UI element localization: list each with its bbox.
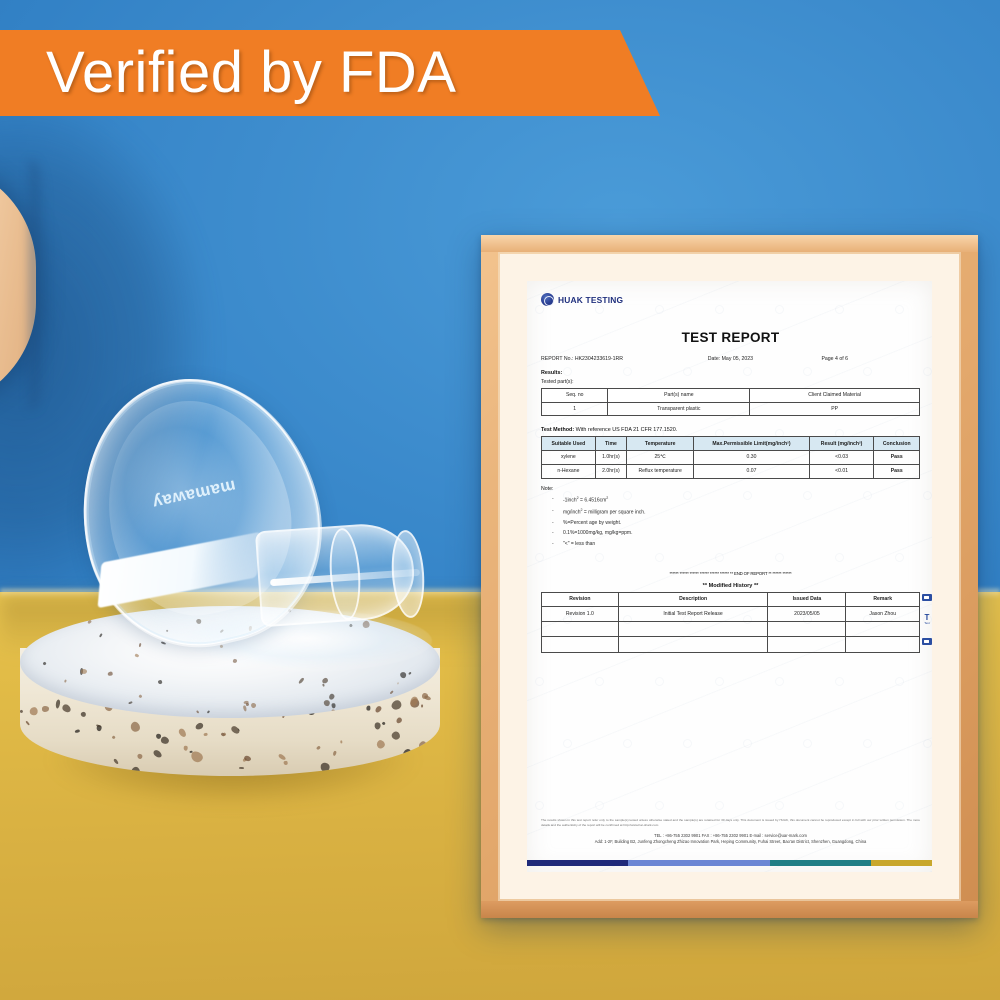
color-bar-segment-4 bbox=[871, 860, 932, 866]
table-cell: 1 bbox=[542, 402, 608, 416]
terrazzo-speck bbox=[75, 729, 80, 733]
terrazzo-speck bbox=[34, 755, 41, 762]
terrazzo-speck bbox=[420, 767, 432, 776]
watermark-dot bbox=[623, 739, 632, 748]
terrazzo-speck bbox=[25, 720, 30, 725]
verified-by-fda-banner: Verified by FDA bbox=[0, 30, 660, 116]
watermark-dot bbox=[835, 677, 844, 686]
terrazzo-speck bbox=[129, 702, 133, 705]
terrazzo-speck bbox=[374, 706, 382, 714]
huak-seal-icon bbox=[541, 293, 554, 306]
terrazzo-speck bbox=[129, 720, 142, 733]
terrazzo-speck bbox=[284, 761, 288, 765]
terrazzo-speck bbox=[328, 692, 335, 700]
report-number: REPORT No.: HK2304233619-1RR bbox=[541, 356, 708, 362]
contact-info: TEL : +86-755 2302 9901 FAX : +86-755 23… bbox=[541, 833, 920, 845]
column-header: Description bbox=[618, 592, 768, 606]
table-cell: Revision 1.0 bbox=[542, 606, 619, 621]
document-body: HUAK TESTING TEST REPORT REPORT No.: HK2… bbox=[541, 291, 920, 653]
table-cell bbox=[846, 622, 920, 637]
table-cell: <0.01 bbox=[809, 464, 874, 478]
table-cell: Transparent plastic bbox=[608, 402, 750, 416]
terrazzo-speck bbox=[239, 767, 244, 770]
terrazzo-speck bbox=[204, 733, 208, 736]
color-bar-segment-1 bbox=[527, 860, 628, 866]
terrazzo-speck bbox=[375, 739, 386, 750]
tested-parts-heading: Tested part(s): bbox=[541, 379, 920, 385]
column-header: Suitable Used bbox=[542, 437, 596, 451]
table-cell bbox=[618, 622, 768, 637]
terrazzo-speck bbox=[321, 763, 331, 773]
banner-label: Verified by FDA bbox=[0, 30, 456, 116]
tested-parts-table: Seq. noPart(s) nameClient Claimed Materi… bbox=[541, 388, 920, 416]
text-tool-caption: Text bbox=[924, 622, 930, 625]
column-header: Client Claimed Material bbox=[750, 389, 920, 403]
table-cell bbox=[768, 637, 846, 652]
terrazzo-speck bbox=[389, 690, 393, 694]
company-logo: HUAK TESTING bbox=[541, 293, 920, 306]
watermark-dot bbox=[775, 801, 784, 810]
terrazzo-speck bbox=[194, 721, 204, 730]
pdf-edge-toolbar[interactable]: T Text bbox=[920, 593, 932, 646]
terrazzo-speck bbox=[55, 699, 61, 709]
table-row: Revision 1.0Initial Test Report Release2… bbox=[542, 606, 920, 621]
terrazzo-speck bbox=[422, 692, 429, 698]
terrazzo-speck bbox=[332, 703, 336, 709]
watermark-dot bbox=[535, 801, 544, 810]
note-item: "<" = less than bbox=[563, 541, 920, 547]
terrazzo-speck bbox=[183, 745, 188, 750]
terrazzo-speck bbox=[324, 701, 330, 707]
watermark-dot bbox=[863, 739, 872, 748]
column-header: Seq. no bbox=[542, 389, 608, 403]
watermark-dot bbox=[655, 677, 664, 686]
terrazzo-speck bbox=[112, 735, 117, 740]
terrazzo-speck bbox=[298, 677, 305, 684]
terrazzo-speck bbox=[42, 661, 46, 665]
terrazzo-speck bbox=[130, 767, 141, 776]
terrazzo-speck bbox=[137, 753, 143, 759]
column-header: Conclusion bbox=[874, 437, 920, 451]
note-item: -1inch2 = 6.4516cm2 bbox=[563, 496, 920, 504]
table-cell: PP bbox=[750, 402, 920, 416]
terrazzo-speck bbox=[38, 768, 44, 774]
table-cell: 2023/05/05 bbox=[768, 606, 846, 621]
terrazzo-speck bbox=[178, 728, 188, 739]
end-of-report-separator: ****** ****** ****** ****** ****** *****… bbox=[541, 571, 920, 576]
table-cell: 1.0hr(s) bbox=[595, 451, 626, 465]
note-item: %=Percent age by weight. bbox=[563, 520, 920, 526]
terrazzo-speck bbox=[437, 762, 440, 767]
column-header: Temperature bbox=[627, 437, 694, 451]
terrazzo-speck bbox=[434, 715, 440, 718]
results-heading: Results: bbox=[541, 370, 920, 376]
terrazzo-speck bbox=[64, 679, 67, 682]
table-cell: 0.30 bbox=[694, 451, 809, 465]
watermark-dot bbox=[923, 739, 932, 748]
table-header-row: RevisionDescriptionIssued DataRemark bbox=[542, 592, 920, 606]
terrazzo-speck bbox=[81, 711, 87, 717]
watermark-dot bbox=[595, 801, 604, 810]
table-cell bbox=[542, 622, 619, 637]
watermark-dot bbox=[683, 739, 692, 748]
signature-icon[interactable] bbox=[922, 637, 933, 646]
table-cell bbox=[618, 637, 768, 652]
table-row: 1Transparent plasticPP bbox=[542, 402, 920, 416]
report-date: Date: May 05, 2023 bbox=[708, 356, 822, 362]
report-number-label: REPORT No.: bbox=[541, 356, 573, 362]
note-item: mg/inch2 = milligram per square inch. bbox=[563, 508, 920, 516]
test-method-table: Suitable UsedTimeTemperatureMax.Permissi… bbox=[541, 436, 920, 478]
frame-mat: HUAK TESTING TEST REPORT REPORT No.: HK2… bbox=[500, 254, 959, 899]
table-cell: 0.07 bbox=[694, 464, 809, 478]
column-header: Issued Data bbox=[768, 592, 846, 606]
company-name: HUAK TESTING bbox=[558, 295, 623, 305]
terrazzo-speck bbox=[230, 724, 240, 734]
report-date-value: May 05, 2023 bbox=[722, 356, 753, 362]
page-title: TEST REPORT bbox=[541, 330, 920, 345]
contact-address-line: Add: 1-2F, Building B2, Junfeng Zhongche… bbox=[541, 839, 920, 845]
document-meta: REPORT No.: HK2304233619-1RR Date: May 0… bbox=[541, 356, 920, 362]
legal-disclaimer: The results shown in this test report re… bbox=[541, 818, 920, 828]
table-cell: Pass bbox=[874, 451, 920, 465]
terrazzo-speck bbox=[42, 706, 50, 712]
watermark-dot bbox=[923, 367, 932, 376]
column-header: Result (mg/inch²) bbox=[809, 437, 874, 451]
note-heading: Note: bbox=[541, 486, 920, 492]
scene-canvas: mamaway Verified by FDA HUAK TESTING TES… bbox=[0, 0, 1000, 1000]
terrazzo-speck bbox=[422, 705, 424, 708]
watermark-dot bbox=[655, 801, 664, 810]
column-header: Part(s) name bbox=[608, 389, 750, 403]
table-cell: 25℃ bbox=[627, 451, 694, 465]
terrazzo-speck bbox=[113, 758, 119, 765]
table-header-row: Suitable UsedTimeTemperatureMax.Permissi… bbox=[542, 437, 920, 451]
page-number: Page 4 of 6 bbox=[821, 356, 920, 362]
watermark-dot bbox=[715, 677, 724, 686]
table-cell: Initial Test Report Release bbox=[618, 606, 768, 621]
terrazzo-speck bbox=[152, 748, 163, 759]
test-method-value: With reference US FDA 21 CFR 177.1520. bbox=[576, 427, 678, 433]
terrazzo-speck bbox=[60, 703, 71, 714]
watermark-dot bbox=[535, 677, 544, 686]
report-date-label: Date: bbox=[708, 356, 720, 362]
watermark-dot bbox=[775, 677, 784, 686]
terrazzo-speck bbox=[381, 721, 386, 726]
terrazzo-speck bbox=[395, 716, 403, 724]
table-row: xylene1.0hr(s)25℃0.30<0.03Pass bbox=[542, 451, 920, 465]
terrazzo-speck bbox=[332, 751, 337, 757]
table-cell: Reflux temperature bbox=[627, 464, 694, 478]
certificate-document: HUAK TESTING TEST REPORT REPORT No.: HK2… bbox=[527, 281, 932, 872]
terrazzo-speck bbox=[427, 761, 434, 768]
watermark-dot bbox=[895, 677, 904, 686]
table-row bbox=[542, 622, 920, 637]
terrazzo-speck bbox=[316, 745, 321, 750]
table-cell: <0.03 bbox=[809, 451, 874, 465]
terrazzo-speck bbox=[139, 694, 143, 698]
terrazzo-speck bbox=[246, 702, 250, 705]
table-row: n-Hexane2.0hr(s)Reflux temperature0.07<0… bbox=[542, 464, 920, 478]
watermark-dot bbox=[895, 801, 904, 810]
table-cell bbox=[542, 637, 619, 652]
report-number-value: HK2304233619-1RR bbox=[575, 356, 623, 362]
column-header: Remark bbox=[846, 592, 920, 606]
text-tool-icon[interactable]: T Text bbox=[922, 615, 933, 624]
terrazzo-speck bbox=[391, 730, 402, 741]
column-header: Time bbox=[595, 437, 626, 451]
modified-history-heading: ** Modified History ** bbox=[541, 583, 920, 589]
stamp-icon[interactable] bbox=[922, 593, 933, 602]
note-item: 0.1%=1000mg/kg, mg/kg=ppm. bbox=[563, 530, 920, 536]
watermark-dot bbox=[715, 801, 724, 810]
watermark-dot bbox=[743, 739, 752, 748]
terrazzo-speck bbox=[340, 741, 342, 744]
terrazzo-speck bbox=[401, 748, 413, 760]
table-cell: Jason Zhou bbox=[846, 606, 920, 621]
test-method-heading: Test Method: With reference US FDA 21 CF… bbox=[541, 427, 920, 433]
column-header: Revision bbox=[542, 592, 619, 606]
table-cell: xylene bbox=[542, 451, 596, 465]
watermark-dot bbox=[923, 491, 932, 500]
table-row bbox=[542, 637, 920, 652]
note-list: -1inch2 = 6.4516cm2mg/inch2 = milligram … bbox=[563, 496, 920, 547]
table-cell: n-Hexane bbox=[542, 464, 596, 478]
table-cell: Pass bbox=[874, 464, 920, 478]
color-bar-segment-2 bbox=[628, 860, 770, 866]
terrazzo-speck bbox=[196, 710, 200, 714]
footer-color-bar bbox=[527, 860, 932, 866]
terrazzo-speck bbox=[157, 679, 162, 684]
terrazzo-speck bbox=[398, 682, 399, 684]
terrazzo-speck bbox=[374, 721, 381, 729]
color-bar-segment-3 bbox=[770, 860, 871, 866]
terrazzo-speck bbox=[366, 706, 370, 711]
watermark-dot bbox=[595, 677, 604, 686]
terrazzo-speck bbox=[30, 706, 39, 715]
terrazzo-speck bbox=[322, 684, 325, 687]
terrazzo-speck bbox=[243, 706, 247, 712]
column-header: Max.Permissible Limit(mg/inch²) bbox=[694, 437, 809, 451]
terrazzo-speck bbox=[223, 732, 227, 736]
terrazzo-speck bbox=[358, 765, 362, 773]
terrazzo-speck bbox=[160, 735, 170, 745]
table-cell bbox=[768, 622, 846, 637]
breast-pump-flange-product: mamaway bbox=[62, 378, 457, 678]
terrazzo-speck bbox=[250, 702, 256, 708]
test-method-label: Test Method: bbox=[541, 427, 574, 433]
watermark-dot bbox=[803, 739, 812, 748]
watermark-dot bbox=[563, 739, 572, 748]
certificate-picture-frame: HUAK TESTING TEST REPORT REPORT No.: HK2… bbox=[481, 235, 978, 918]
table-cell bbox=[846, 637, 920, 652]
watermark-dot bbox=[835, 801, 844, 810]
table-cell: 2.0hr(s) bbox=[595, 464, 626, 478]
table-header-row: Seq. noPart(s) nameClient Claimed Materi… bbox=[542, 389, 920, 403]
terrazzo-speck bbox=[207, 710, 210, 713]
modified-history-table: RevisionDescriptionIssued DataRemark Rev… bbox=[541, 592, 920, 653]
